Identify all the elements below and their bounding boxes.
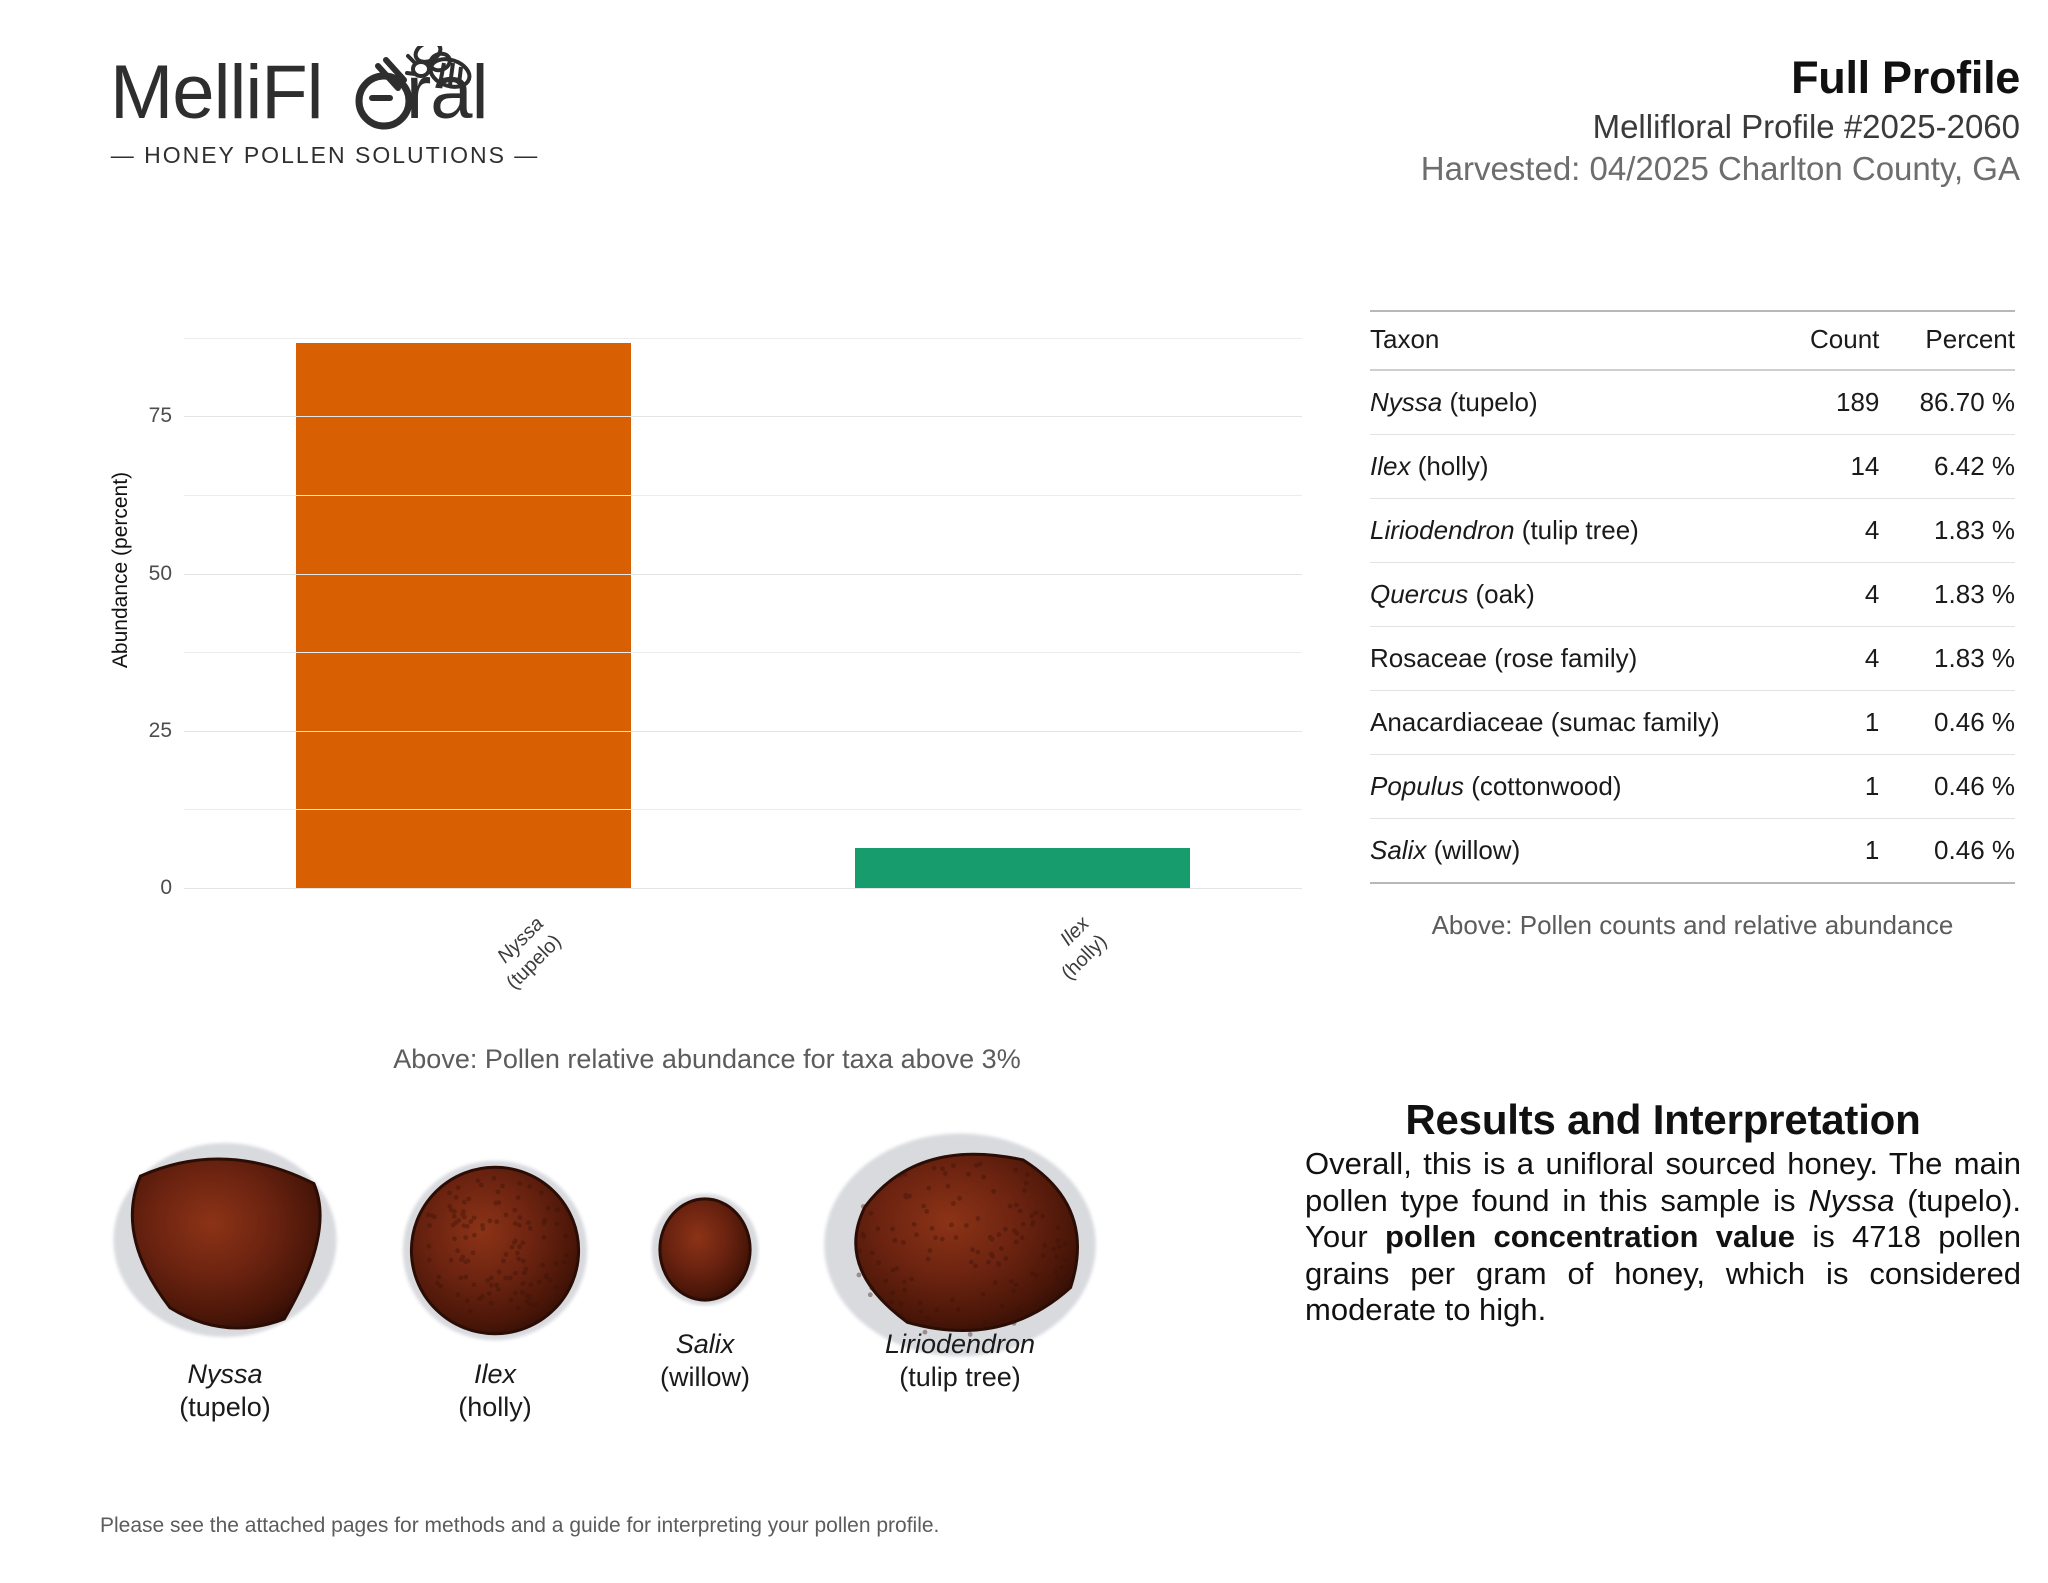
page-title: Full Profile xyxy=(1120,54,2020,102)
pollen-caption-genus: Nyssa xyxy=(179,1358,271,1391)
table-row: Populus (cottonwood)10.46 % xyxy=(1370,755,2015,819)
table-row: Rosaceae (rose family)41.83 % xyxy=(1370,627,2015,691)
results-bold-phrase: pollen concentration value xyxy=(1385,1219,1795,1254)
taxon-genus: Anacardiaceae xyxy=(1370,707,1543,737)
pollen-caption: Liriodendron(tulip tree) xyxy=(885,1328,1035,1394)
cell-count: 1 xyxy=(1774,691,1880,755)
cell-taxon: Rosaceae (rose family) xyxy=(1370,627,1774,691)
taxon-common-name: (oak) xyxy=(1468,579,1534,609)
taxon-common-name: (sumac family) xyxy=(1543,707,1719,737)
column-header-taxon: Taxon xyxy=(1370,311,1774,370)
pollen-count-table-wrapper: Taxon Count Percent Nyssa (tupelo)18986.… xyxy=(1370,310,2015,941)
table-header: Taxon Count Percent xyxy=(1370,311,2015,370)
cell-percent: 0.46 % xyxy=(1879,819,2015,884)
cell-percent: 0.46 % xyxy=(1879,691,2015,755)
taxon-genus: Liriodendron xyxy=(1370,515,1515,545)
cell-taxon: Quercus (oak) xyxy=(1370,563,1774,627)
chart-x-axis-labels: Nyssa(tupelo)Ilex(holly) xyxy=(184,906,1302,1056)
cell-count: 4 xyxy=(1774,499,1880,563)
svg-text:MelliFl: MelliFl xyxy=(110,50,323,135)
column-header-percent: Percent xyxy=(1879,311,2015,370)
chart-caption: Above: Pollen relative abundance for tax… xyxy=(112,1044,1302,1075)
brand-logo: MelliFl ral xyxy=(110,46,560,169)
report-header: Full Profile Mellifloral Profile #2025-2… xyxy=(1120,54,2020,190)
cell-taxon: Anacardiaceae (sumac family) xyxy=(1370,691,1774,755)
cell-count: 189 xyxy=(1774,370,1880,435)
pollen-caption: Salix(willow) xyxy=(660,1328,750,1394)
column-header-count: Count xyxy=(1774,311,1880,370)
table-row: Anacardiaceae (sumac family)10.46 % xyxy=(1370,691,2015,755)
y-axis-tick-50: 50 xyxy=(149,562,172,586)
chart-gridline-major xyxy=(184,731,1302,732)
chart-gridline-minor xyxy=(184,809,1302,810)
brand-wordmark: MelliFl ral xyxy=(110,46,560,138)
chart-bars xyxy=(184,300,1302,888)
chart-gridline-minor xyxy=(184,338,1302,339)
taxon-genus: Quercus xyxy=(1370,579,1468,609)
cell-taxon: Nyssa (tupelo) xyxy=(1370,370,1774,435)
results-text: Overall, this is a unifloral sourced hon… xyxy=(1305,1146,2021,1329)
cell-count: 4 xyxy=(1774,563,1880,627)
pollen-micrograph-item: Nyssa(tupelo) xyxy=(110,1130,340,1340)
pollen-caption: Ilex(holly) xyxy=(458,1358,532,1424)
pollen-grain-image-liriodendron xyxy=(820,1130,1100,1360)
results-section: Results and Interpretation Overall, this… xyxy=(1305,1096,2021,1329)
chart-bar xyxy=(296,343,631,888)
taxon-common-name: (tupelo) xyxy=(1442,387,1537,417)
table-row: Liriodendron (tulip tree)41.83 % xyxy=(1370,499,2015,563)
pollen-caption-genus: Liriodendron xyxy=(885,1328,1035,1361)
cell-percent: 86.70 % xyxy=(1879,370,2015,435)
table-body: Nyssa (tupelo)18986.70 %Ilex (holly)146.… xyxy=(1370,370,2015,883)
table-row: Nyssa (tupelo)18986.70 % xyxy=(1370,370,2015,435)
harvest-info: Harvested: 04/2025 Charlton County, GA xyxy=(1120,148,2020,190)
taxon-common-name: (tulip tree) xyxy=(1515,515,1639,545)
cell-percent: 6.42 % xyxy=(1879,435,2015,499)
table-header-row: Taxon Count Percent xyxy=(1370,311,2015,370)
profile-id: Mellifloral Profile #2025-2060 xyxy=(1120,106,2020,148)
taxon-common-name: (cottonwood) xyxy=(1464,771,1622,801)
pollen-grain-image-salix xyxy=(650,1130,760,1307)
abundance-bar-chart: Abundance (percent) 0255075 Nyssa(tupelo… xyxy=(112,270,1302,920)
x-axis-tick-label: Ilex(holly) xyxy=(1038,912,1112,986)
cell-taxon: Populus (cottonwood) xyxy=(1370,755,1774,819)
taxon-common-name: (rose family) xyxy=(1487,643,1637,673)
pollen-micrograph-item: Ilex(holly) xyxy=(400,1130,590,1343)
pollen-grain-image-ilex xyxy=(400,1130,590,1343)
y-axis-label-text: Abundance (percent) xyxy=(109,472,133,668)
footer-note: Please see the attached pages for method… xyxy=(100,1514,939,1538)
cell-percent: 1.83 % xyxy=(1879,627,2015,691)
pollen-grain-image-nyssa xyxy=(110,1130,340,1340)
table-row: Quercus (oak)41.83 % xyxy=(1370,563,2015,627)
taxon-genus: Rosaceae xyxy=(1370,643,1487,673)
mellifloral-logo-icon: MelliFl ral xyxy=(110,46,560,142)
y-axis-tick-0: 0 xyxy=(160,876,172,900)
results-heading: Results and Interpretation xyxy=(1305,1096,2021,1144)
pollen-caption: Nyssa(tupelo) xyxy=(179,1358,271,1424)
cell-taxon: Liriodendron (tulip tree) xyxy=(1370,499,1774,563)
pollen-caption-common: (tupelo) xyxy=(179,1391,271,1424)
taxon-genus: Salix xyxy=(1370,835,1426,865)
pollen-micrograph-item: Salix(willow) xyxy=(650,1130,760,1307)
table-row: Salix (willow)10.46 % xyxy=(1370,819,2015,884)
cell-percent: 1.83 % xyxy=(1879,499,2015,563)
y-axis-tick-75: 75 xyxy=(149,404,172,428)
taxon-genus: Nyssa xyxy=(1370,387,1442,417)
taxon-genus: Populus xyxy=(1370,771,1464,801)
pollen-caption-common: (holly) xyxy=(458,1391,532,1424)
pollen-caption-genus: Salix xyxy=(660,1328,750,1361)
cell-count: 4 xyxy=(1774,627,1880,691)
cell-percent: 0.46 % xyxy=(1879,755,2015,819)
cell-count: 14 xyxy=(1774,435,1880,499)
table-row: Ilex (holly)146.42 % xyxy=(1370,435,2015,499)
cell-percent: 1.83 % xyxy=(1879,563,2015,627)
brand-tagline: — HONEY POLLEN SOLUTIONS — xyxy=(110,142,540,169)
chart-bar xyxy=(855,848,1190,888)
chart-gridline-minor xyxy=(184,495,1302,496)
x-axis-tick-label: Nyssa(tupelo) xyxy=(483,912,566,995)
taxon-genus: Ilex xyxy=(1370,451,1410,481)
taxon-common-name: (holly) xyxy=(1410,451,1488,481)
results-genus: Nyssa xyxy=(1808,1183,1894,1218)
cell-taxon: Ilex (holly) xyxy=(1370,435,1774,499)
chart-gridline-minor xyxy=(184,652,1302,653)
pollen-count-table: Taxon Count Percent Nyssa (tupelo)18986.… xyxy=(1370,310,2015,884)
pollen-micrograph-item: Liriodendron(tulip tree) xyxy=(820,1130,1100,1360)
chart-gridline-major xyxy=(184,888,1302,889)
table-caption: Above: Pollen counts and relative abunda… xyxy=(1370,910,2015,941)
chart-plot-area: 0255075 xyxy=(184,300,1302,888)
pollen-caption-common: (willow) xyxy=(660,1361,750,1394)
cell-count: 1 xyxy=(1774,819,1880,884)
pollen-caption-genus: Ilex xyxy=(458,1358,532,1391)
pollen-caption-common: (tulip tree) xyxy=(885,1361,1035,1394)
cell-count: 1 xyxy=(1774,755,1880,819)
y-axis-tick-25: 25 xyxy=(149,719,172,743)
report-page: MelliFl ral xyxy=(0,0,2048,1583)
cell-taxon: Salix (willow) xyxy=(1370,819,1774,884)
chart-gridline-major xyxy=(184,416,1302,417)
chart-y-axis-label: Abundance (percent) xyxy=(106,270,136,870)
pollen-micrograph-gallery: Nyssa(tupelo)Ilex(holly)Salix(willow)Lir… xyxy=(110,1130,1290,1450)
taxon-common-name: (willow) xyxy=(1426,835,1520,865)
chart-gridline-major xyxy=(184,574,1302,575)
